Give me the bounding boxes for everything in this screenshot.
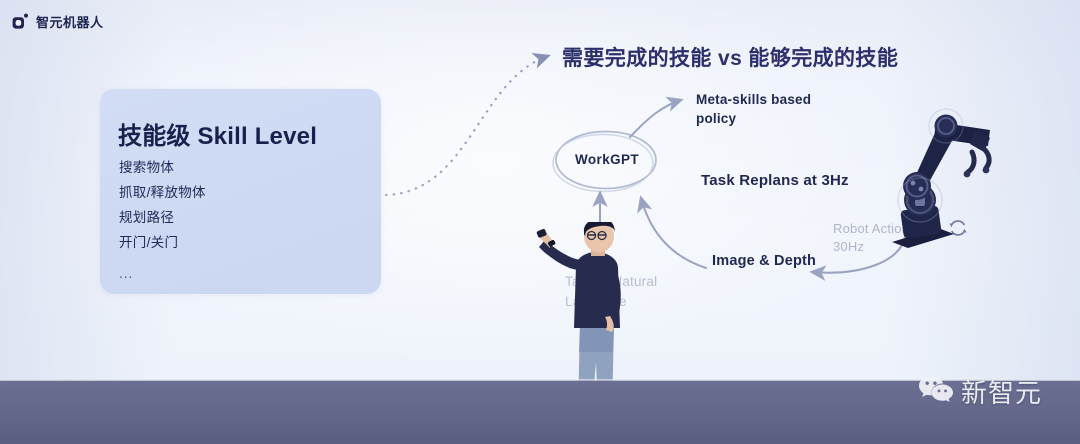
wechat-icon: [918, 374, 954, 409]
list-item: 规划路径: [119, 205, 206, 230]
watermark-text: 新智元: [961, 373, 1042, 410]
label-meta-skills-policy: Meta-skills based policy: [696, 90, 826, 128]
brand-logo: 智元机器人: [12, 12, 104, 31]
label-task-replans: Task Replans at 3Hz: [701, 172, 849, 189]
skill-card-list: 搜索物体 抓取/释放物体 规划路径 开门/关门 ...: [119, 155, 206, 286]
watermark: 新智元: [918, 373, 1042, 410]
robot-arm-icon: [884, 104, 992, 249]
slide-photo-scene: 智元机器人 技能级 Skill Level 搜索物体 抓取/释放物体 规划路径 …: [0, 0, 1080, 444]
cube-logo-icon: [12, 13, 29, 30]
list-item: 抓取/释放物体: [119, 180, 206, 205]
label-workgpt-node: WorkGPT: [575, 152, 639, 167]
list-ellipsis: ...: [119, 261, 206, 286]
brand-name: 智元机器人: [36, 12, 104, 31]
list-item: 搜索物体: [119, 155, 206, 180]
skill-card-title: 技能级 Skill Level: [118, 116, 317, 151]
list-item: 开门/关门: [119, 230, 206, 255]
label-image-depth: Image & Depth: [712, 251, 816, 271]
skill-level-card: 技能级 Skill Level 搜索物体 抓取/释放物体 规划路径 开门/关门 …: [100, 89, 381, 294]
page-title: 需要完成的技能 vs 能够完成的技能: [562, 42, 898, 72]
